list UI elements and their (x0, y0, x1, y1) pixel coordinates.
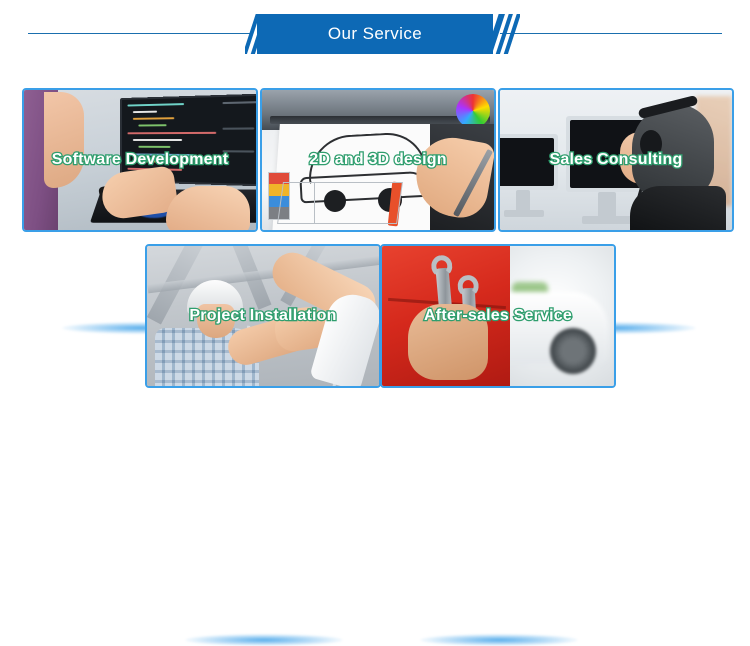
card-caption: After-sales Service (382, 307, 614, 325)
card-glow (185, 634, 343, 646)
service-card-sales-consulting[interactable]: Sales Consulting (498, 88, 734, 232)
card-glow (420, 634, 578, 646)
page-header: Our Service (0, 14, 750, 54)
card-caption: Sales Consulting (500, 151, 732, 169)
service-card-2d-3d-design[interactable]: 2D and 3D design (260, 88, 496, 232)
page-title: Our Service (328, 24, 422, 44)
service-card-after-sales-service[interactable]: After-sales Service (380, 244, 616, 388)
header-rule-right (500, 33, 722, 34)
card-caption: 2D and 3D design (262, 151, 494, 169)
header-rule-left (28, 33, 250, 34)
service-card-project-installation[interactable]: Project Installation (145, 244, 381, 388)
service-card-software-development[interactable]: Software Development (22, 88, 258, 232)
header-banner: Our Service (257, 14, 493, 54)
header-stripes-right (490, 14, 520, 54)
card-caption: Software Development (24, 151, 256, 169)
card-caption: Project Installation (147, 307, 379, 325)
